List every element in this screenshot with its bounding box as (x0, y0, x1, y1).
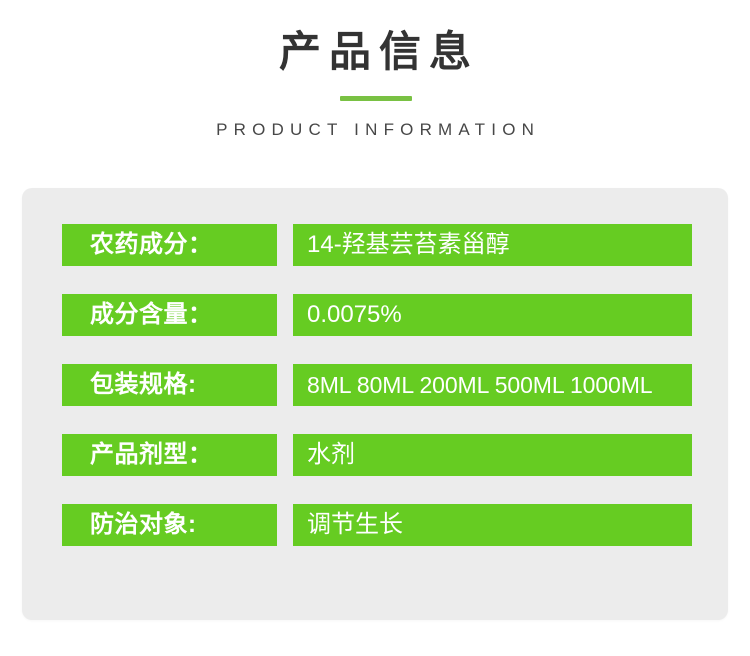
spec-label-text: 农药成分： (90, 224, 213, 266)
table-row: 包装规格: 8ML 80ML 200ML 500ML 1000ML (62, 364, 692, 406)
table-row: 成分含量： 0.0075% (62, 294, 692, 336)
spec-label-cell: 防治对象: (62, 504, 277, 546)
spec-label-cell: 包装规格: (62, 364, 277, 406)
spec-label-text: 产品剂型： (90, 434, 213, 476)
table-row: 产品剂型： 水剂 (62, 434, 692, 476)
spec-value-text: 调节生长 (307, 504, 403, 546)
spec-value-text: 0.0075% (307, 294, 402, 336)
spec-value-text: 8ML 80ML 200ML 500ML 1000ML (307, 364, 653, 406)
page-subtitle: PRODUCT INFORMATION (0, 118, 750, 142)
spec-value-cell: 0.0075% (293, 294, 692, 336)
table-row: 农药成分： 14-羟基芸苔素甾醇 (62, 224, 692, 266)
spec-label-text: 成分含量： (90, 294, 213, 336)
spec-label-text: 防治对象: (90, 504, 197, 546)
spec-value-cell: 水剂 (293, 434, 692, 476)
page-header: 产品信息 PRODUCT INFORMATION (0, 0, 750, 188)
spec-value-cell: 8ML 80ML 200ML 500ML 1000ML (293, 364, 692, 406)
spec-label-text: 包装规格: (90, 364, 197, 406)
spec-value-cell: 调节生长 (293, 504, 692, 546)
spec-label-cell: 产品剂型： (62, 434, 277, 476)
spec-label-cell: 农药成分： (62, 224, 277, 266)
spec-value-text: 14-羟基芸苔素甾醇 (307, 224, 510, 266)
product-info-panel: 农药成分： 14-羟基芸苔素甾醇 成分含量： 0.0075% 包装规格: 8ML… (22, 188, 728, 620)
spec-table: 农药成分： 14-羟基芸苔素甾醇 成分含量： 0.0075% 包装规格: 8ML… (22, 188, 728, 620)
page-title: 产品信息 (0, 26, 750, 78)
spec-value-text: 水剂 (307, 434, 355, 476)
title-underline-accent (340, 96, 412, 101)
table-row: 防治对象: 调节生长 (62, 504, 692, 546)
spec-value-cell: 14-羟基芸苔素甾醇 (293, 224, 692, 266)
spec-label-cell: 成分含量： (62, 294, 277, 336)
